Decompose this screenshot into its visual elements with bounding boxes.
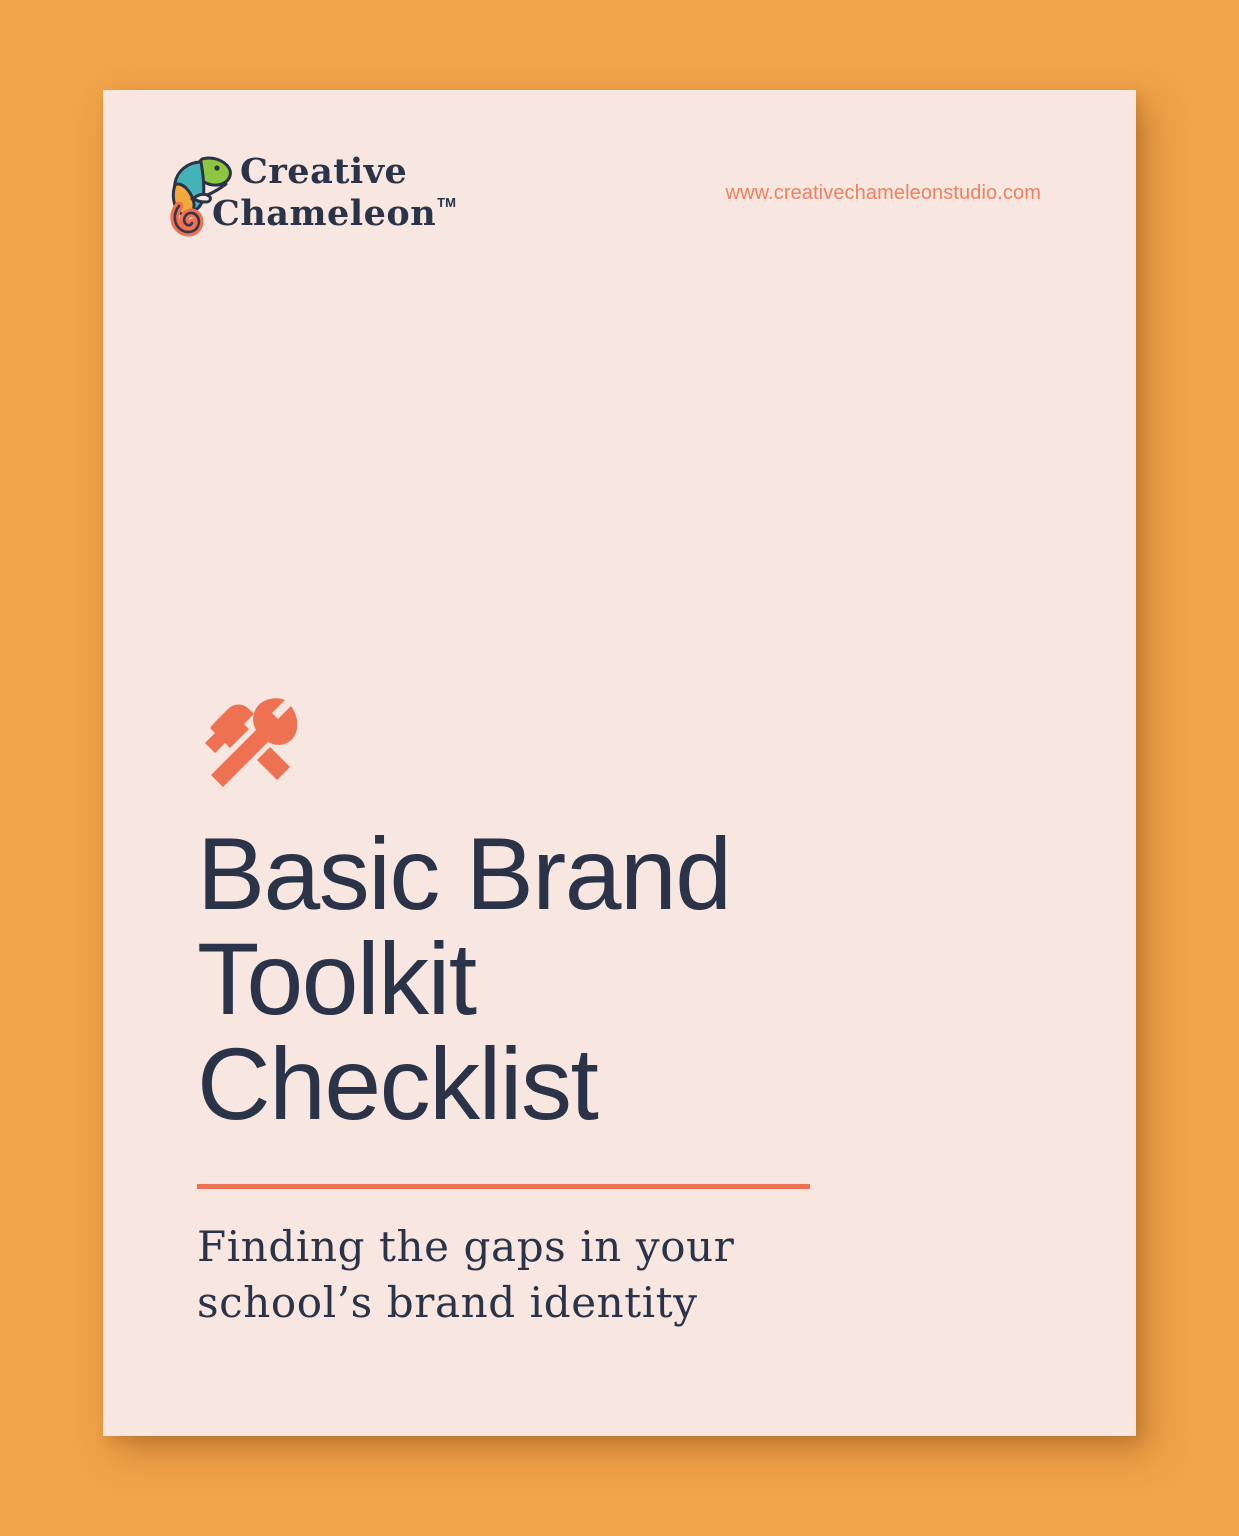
title-divider: [197, 1184, 810, 1189]
brand-name-line2: Chameleon: [212, 194, 436, 234]
cover-header: Creative Chameleon TM www.creativechamel…: [103, 90, 1136, 290]
website-url[interactable]: www.creativechameleonstudio.com: [726, 182, 1041, 205]
page-subtitle: Finding the gaps in your school’s brand …: [197, 1219, 837, 1331]
brand-name-line2-row: Chameleon TM: [212, 194, 456, 234]
cover-hero: Basic Brand Toolkit Checklist Finding th…: [197, 694, 937, 1331]
document-cover-page: Creative Chameleon TM www.creativechamel…: [103, 90, 1136, 1436]
brand-wordmark: Creative Chameleon TM: [238, 152, 456, 234]
hammer-and-wrench-icon: [197, 694, 297, 794]
trademark-symbol: TM: [437, 196, 456, 209]
page-title: Basic Brand Toolkit Checklist: [197, 822, 837, 1137]
brand-name-line1: Creative: [240, 152, 456, 192]
brand-logo: Creative Chameleon TM: [168, 152, 456, 238]
